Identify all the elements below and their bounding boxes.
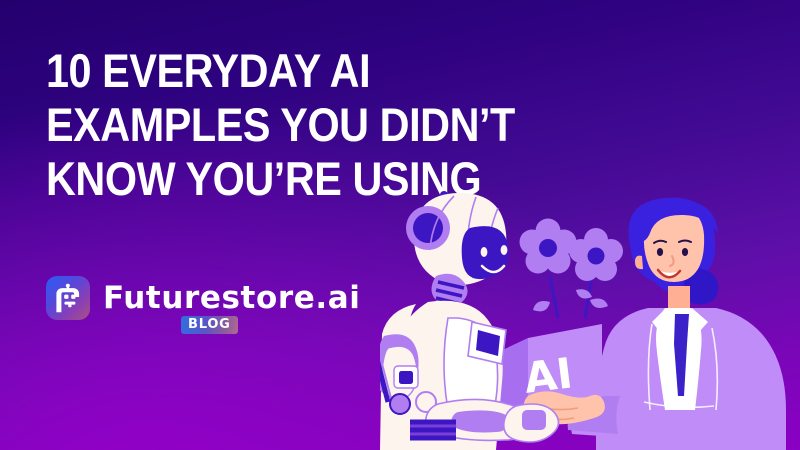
headline-line-3: KNOW YOU’RE USING bbox=[46, 152, 504, 206]
logo-mark bbox=[46, 276, 90, 320]
robot-head-icon bbox=[54, 283, 82, 313]
brand-logo[interactable]: Futurestore.ai BLOG bbox=[46, 276, 361, 320]
flowers-decoration bbox=[520, 219, 624, 319]
robot-figure bbox=[380, 191, 559, 450]
headline-line-2: EXAMPLES YOU DIDN’T bbox=[46, 98, 504, 152]
hero-illustration: AI bbox=[380, 190, 800, 450]
blog-banner: 10 EVERYDAY AI EXAMPLES YOU DIDN’T KNOW … bbox=[0, 0, 800, 450]
hand bbox=[524, 391, 605, 424]
headline-line-1: 10 EVERYDAY AI bbox=[46, 44, 504, 98]
ai-box: AI bbox=[476, 322, 602, 426]
page-title: 10 EVERYDAY AI EXAMPLES YOU DIDN’T KNOW … bbox=[46, 44, 504, 206]
logo-wordmark: Futurestore.ai bbox=[103, 283, 361, 314]
blog-badge: BLOG bbox=[181, 316, 238, 334]
ai-box-label: AI bbox=[521, 348, 575, 403]
person-figure bbox=[568, 198, 786, 450]
